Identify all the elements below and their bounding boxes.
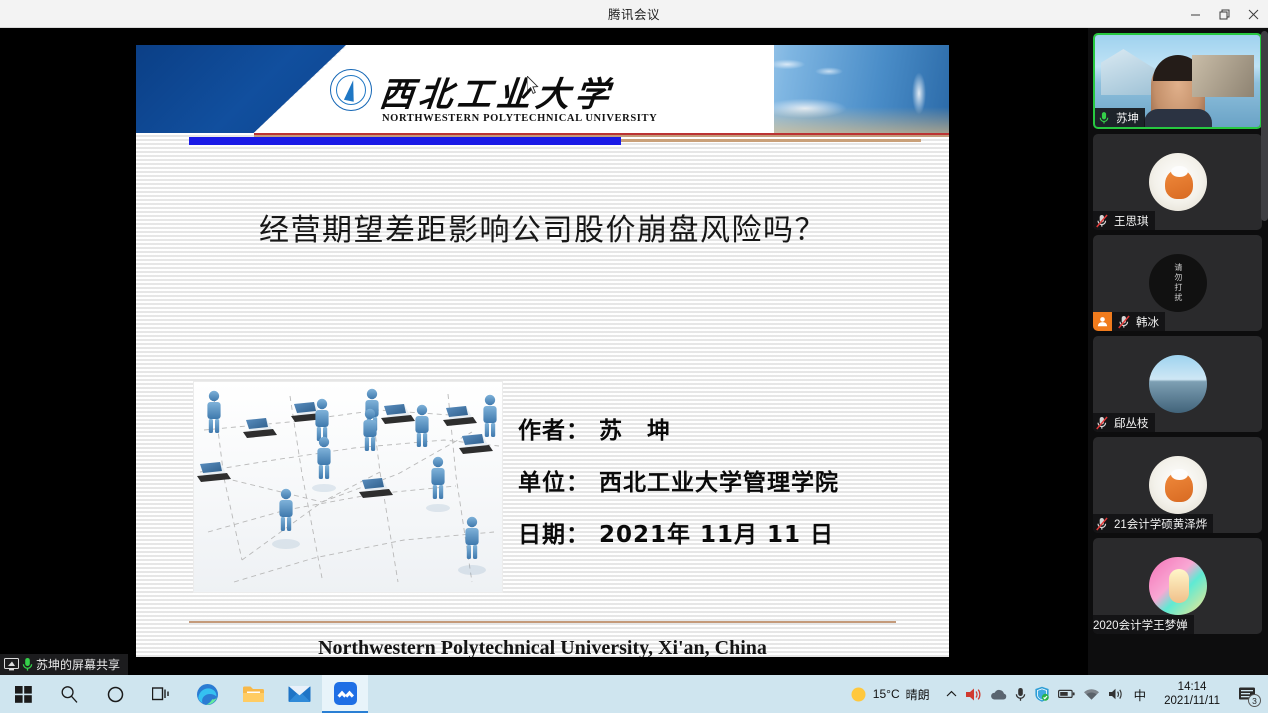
- taskbar-tray: 15°C 晴朗: [844, 675, 1268, 713]
- participant-namechip: 王思琪: [1093, 211, 1155, 230]
- close-button[interactable]: [1239, 0, 1268, 28]
- participant-name: 21会计学硕黄泽烨: [1114, 516, 1207, 532]
- microphone-muted-icon: [1115, 315, 1133, 329]
- microphone-muted-icon: [1093, 214, 1111, 228]
- participant-namechip: 21会计学硕黄泽烨: [1093, 514, 1213, 533]
- tencent-meeting-window: 腾讯会议: [0, 0, 1268, 713]
- participant-tile[interactable]: 请勿打扰: [1093, 235, 1262, 331]
- participant-name: 苏坤: [1116, 110, 1139, 126]
- start-button[interactable]: [0, 675, 46, 713]
- avatar: 请勿打扰: [1149, 254, 1207, 312]
- taskbar-items: [0, 675, 368, 713]
- file-explorer-button[interactable]: [230, 675, 276, 713]
- weather-temperature: 15°C: [873, 687, 900, 701]
- slide-info-author: 作者： 苏 坤: [518, 411, 918, 445]
- system-tray-icons: 中: [942, 685, 1153, 704]
- avatar: [1149, 456, 1207, 514]
- title-bar: 腾讯会议: [0, 0, 1268, 28]
- participants-scrollbar[interactable]: [1261, 31, 1268, 221]
- microphone-icon: [22, 657, 33, 672]
- slide-footer-text: Northwestern Polytechnical University, X…: [136, 637, 949, 657]
- restore-button[interactable]: [1210, 0, 1239, 28]
- participant-name: 王思琪: [1114, 213, 1149, 229]
- shared-screen-stage[interactable]: 西北工业大学 NORTHWESTERN POLYTECHNICAL UNIVER…: [0, 28, 1088, 675]
- minimize-button[interactable]: [1181, 0, 1210, 28]
- slide-info-block: 作者： 苏 坤 单位： 西北工业大学管理学院 日期： 2021年 11月 11 …: [518, 411, 918, 567]
- clock-widget[interactable]: 14:14 2021/11/11: [1158, 680, 1226, 709]
- participant-name: 2020会计学王梦婵: [1093, 617, 1188, 633]
- participant-namechip: 苏坤: [1095, 108, 1145, 127]
- microphone-on-icon: [1095, 111, 1113, 125]
- mouse-cursor: [527, 76, 539, 95]
- slide-banner: 西北工业大学 NORTHWESTERN POLYTECHNICAL UNIVER…: [136, 45, 949, 133]
- slide-title: 经营期望差距影响公司股价崩盘风险吗？: [136, 205, 949, 249]
- avatar: [1149, 557, 1207, 615]
- participant-namechip: 韩冰: [1093, 312, 1165, 331]
- microphone-tray-icon[interactable]: [1015, 687, 1026, 702]
- host-badge-icon: [1093, 312, 1112, 331]
- wifi-icon[interactable]: [1083, 688, 1100, 701]
- speaker-red-icon[interactable]: [965, 687, 982, 702]
- participants-rail[interactable]: 苏坤 03:38: [1088, 28, 1268, 675]
- security-shield-icon[interactable]: [1034, 686, 1050, 702]
- clock-time: 14:14: [1164, 680, 1220, 694]
- participant-name: 韩冰: [1136, 314, 1159, 330]
- folder-icon: [242, 684, 265, 704]
- avatar-text: 请勿打扰: [1173, 263, 1182, 303]
- sun-icon: [850, 686, 867, 703]
- accent-bar-blue: [189, 137, 621, 145]
- microphone-muted-icon: [1093, 517, 1111, 531]
- participant-namechip: 郈丛枝: [1093, 413, 1155, 432]
- avatar: [1149, 355, 1207, 413]
- presentation-slide: 西北工业大学 NORTHWESTERN POLYTECHNICAL UNIVER…: [136, 45, 949, 657]
- accent-bar-tan: [621, 139, 921, 142]
- weather-condition: 晴朗: [906, 686, 930, 703]
- onedrive-cloud-icon[interactable]: [990, 688, 1007, 701]
- task-view-icon: [152, 686, 171, 703]
- notification-center-button[interactable]: 3: [1232, 675, 1262, 713]
- battery-icon[interactable]: [1058, 688, 1075, 700]
- edge-button[interactable]: [184, 675, 230, 713]
- taskbar: 15°C 晴朗: [0, 675, 1268, 713]
- chevron-up-icon[interactable]: [946, 689, 957, 700]
- windows-icon: [15, 686, 32, 703]
- ime-indicator[interactable]: 中: [1132, 685, 1149, 704]
- slide-footer-rule: [189, 621, 896, 623]
- participant-tile-self[interactable]: 苏坤: [1093, 33, 1262, 129]
- university-logo-icon: [330, 69, 372, 111]
- monitor-icon: [4, 658, 19, 671]
- slide-info-date: 日期： 2021年 11月 11 日: [518, 515, 918, 549]
- window-controls: [1181, 0, 1268, 28]
- task-view-button[interactable]: [138, 675, 184, 713]
- meeting-body: 西北工业大学 NORTHWESTERN POLYTECHNICAL UNIVER…: [0, 28, 1268, 675]
- notification-count-badge: 3: [1248, 694, 1261, 707]
- university-name-en: NORTHWESTERN POLYTECHNICAL UNIVERSITY: [382, 113, 657, 124]
- tencent-meeting-button[interactable]: [322, 675, 368, 713]
- university-name-cn: 西北工业大学: [377, 67, 616, 116]
- edge-icon: [196, 683, 219, 706]
- slide-info-affiliation: 单位： 西北工业大学管理学院: [518, 463, 918, 497]
- microphone-muted-icon: [1093, 416, 1111, 430]
- network-diagram-image: [193, 381, 503, 593]
- participant-name: 郈丛枝: [1114, 415, 1149, 431]
- tencent-meeting-icon: [334, 682, 357, 705]
- search-button[interactable]: [46, 675, 92, 713]
- screen-share-indicator: 苏坤的屏幕共享: [0, 654, 128, 675]
- window-title: 腾讯会议: [608, 4, 660, 23]
- weather-widget[interactable]: 15°C 晴朗: [844, 686, 936, 703]
- mail-button[interactable]: [276, 675, 322, 713]
- participant-tile[interactable]: 2020会计学王梦婵: [1093, 538, 1262, 634]
- volume-icon[interactable]: [1108, 687, 1124, 701]
- cortana-button[interactable]: [92, 675, 138, 713]
- clock-date: 2021/11/11: [1164, 694, 1220, 708]
- participant-tile[interactable]: 21会计学硕黄泽烨: [1093, 437, 1262, 533]
- self-video-face: [1151, 59, 1205, 129]
- avatar: [1149, 153, 1207, 211]
- participant-tile[interactable]: 郈丛枝: [1093, 336, 1262, 432]
- participant-namechip: 2020会计学王梦婵: [1093, 615, 1194, 634]
- screen-share-label: 苏坤的屏幕共享: [36, 656, 120, 673]
- search-icon: [60, 685, 79, 704]
- mail-icon: [288, 685, 311, 703]
- participant-tile[interactable]: 03:38 正在讲话: 苏坤;: [1093, 134, 1262, 230]
- circle-icon: [107, 686, 124, 703]
